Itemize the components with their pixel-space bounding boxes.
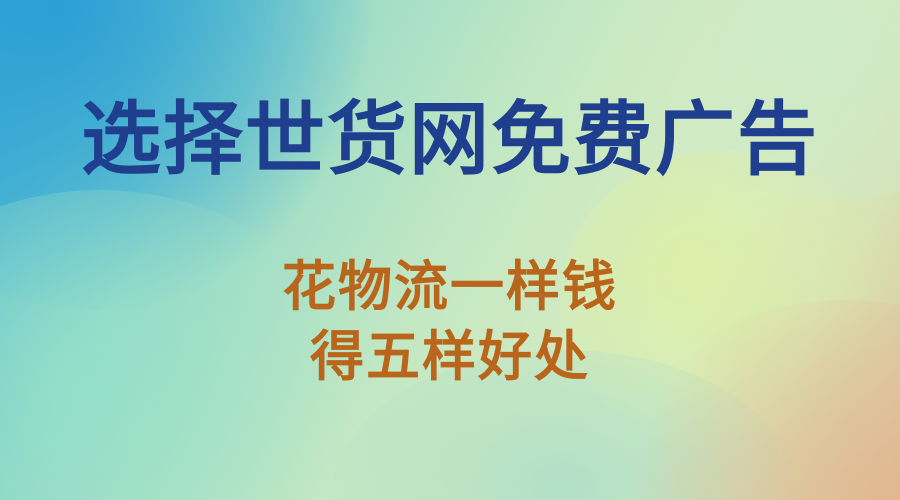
promo-banner: 选择世货网免费广告 花物流一样钱 得五样好处	[0, 0, 900, 500]
banner-subtitle-line-1: 花物流一样钱	[0, 252, 900, 322]
banner-headline: 选择世货网免费广告	[0, 100, 900, 180]
banner-subtitle: 花物流一样钱 得五样好处	[0, 252, 900, 392]
banner-content: 选择世货网免费广告 花物流一样钱 得五样好处	[0, 0, 900, 500]
banner-subtitle-line-2: 得五样好处	[0, 322, 900, 392]
